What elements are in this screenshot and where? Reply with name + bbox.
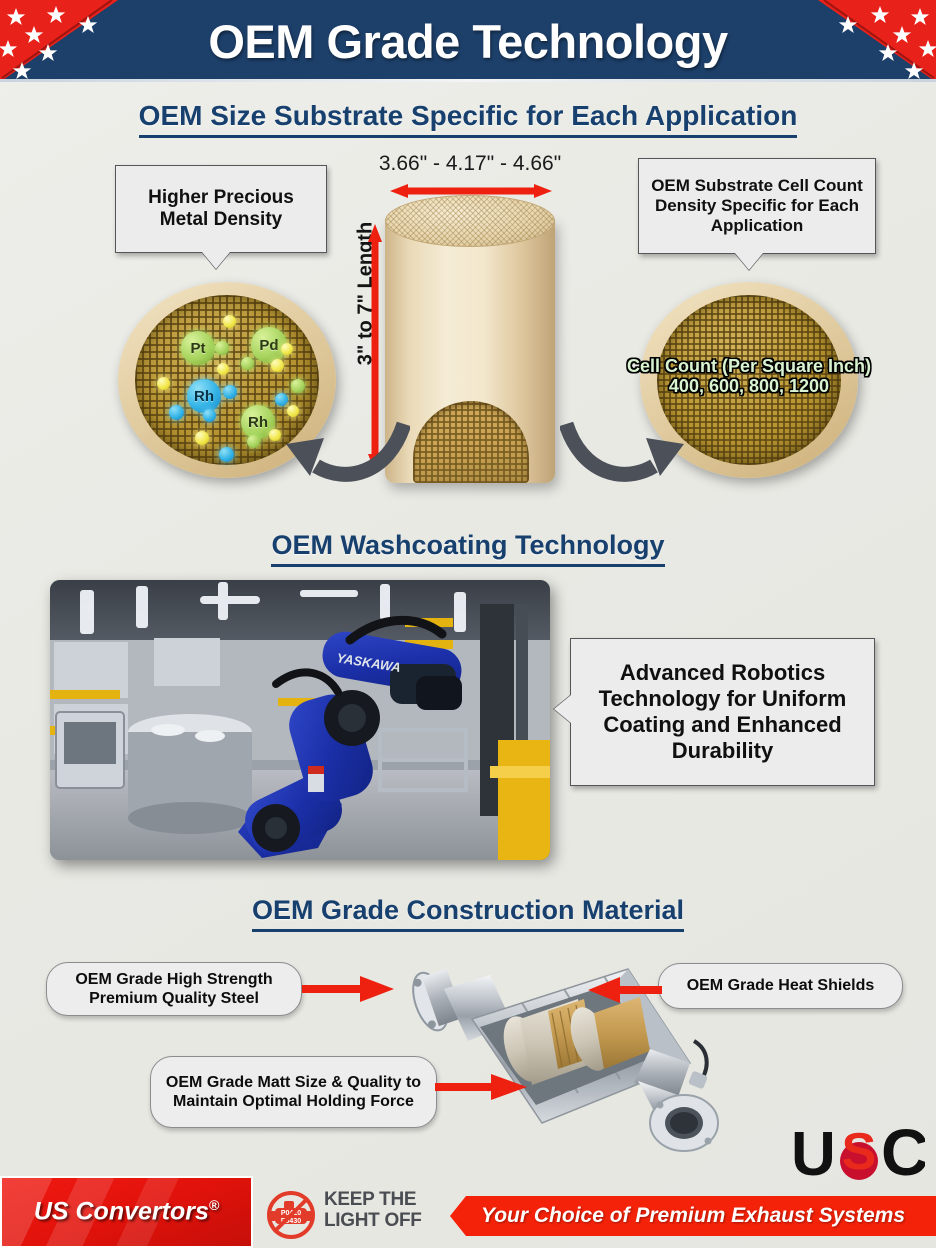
callout-advanced-robotics: Advanced Robotics Technology for Uniform…: [570, 638, 875, 786]
curved-arrow-left: [280, 400, 410, 490]
callout-cell-count-density-text: OEM Substrate Cell Count Density Specifi…: [648, 176, 866, 236]
metal-particle: [247, 435, 260, 448]
tagline-text: Your Choice of Premium Exhaust Systems: [481, 1204, 905, 1228]
callout-tail: [554, 695, 571, 723]
callout-tail: [202, 252, 230, 269]
callout-precious-metal-density-text: Higher Precious Metal Density: [125, 187, 317, 232]
section-heading-substrate: OEM Size Substrate Specific for Each App…: [0, 100, 936, 138]
red-arrow-to-matt: [435, 1074, 527, 1100]
keep-light-line-1: KEEP THE: [324, 1190, 422, 1211]
header-divider: [0, 79, 936, 82]
callout-heat-shields-text: OEM Grade Heat Shields: [687, 976, 875, 995]
precious-metal-rh: Rh: [187, 379, 221, 413]
cell-count-title: Cell Count (Per Square Inch): [598, 356, 900, 376]
page-header: OEM Grade Technology: [0, 0, 936, 82]
callout-precious-metal-density: Higher Precious Metal Density: [115, 165, 327, 253]
keep-light-off-text: KEEP THE LIGHT OFF: [324, 1190, 422, 1231]
precious-metal-pt: Pt: [181, 331, 215, 365]
keep-light-line-2: LIGHT OFF: [324, 1211, 422, 1232]
callout-premium-steel-text: OEM Grade High Strength Premium Quality …: [59, 970, 289, 1008]
metal-particle: [271, 359, 284, 372]
usc-logo-s: S: [842, 1123, 877, 1181]
metal-particle: [219, 447, 234, 462]
callout-premium-steel: OEM Grade High Strength Premium Quality …: [46, 962, 302, 1016]
callout-advanced-robotics-text: Advanced Robotics Technology for Uniform…: [580, 660, 865, 764]
cylinder-body: [385, 219, 555, 483]
keep-the-light-off-badge: P0420 P0430 KEEP THE LIGHT OFF: [262, 1186, 437, 1244]
metal-particle: [281, 343, 293, 355]
tagline-banner: Your Choice of Premium Exhaust Systems: [450, 1196, 936, 1236]
substrate-cylinder: [385, 195, 555, 495]
red-arrow-to-heat-shield: [588, 977, 662, 1003]
red-arrow-to-steel: [302, 976, 394, 1002]
curved-arrow-right: [560, 400, 690, 490]
cell-count-values: 400, 600, 800, 1200: [598, 376, 900, 396]
metal-particle: [215, 341, 229, 355]
metal-particle: [241, 357, 254, 370]
metal-particle: [223, 315, 236, 328]
metal-particle: [291, 379, 305, 393]
metal-particle: [217, 363, 229, 375]
metal-particle: [169, 405, 184, 420]
registered-mark: ®: [209, 1197, 219, 1213]
section-heading-substrate-text: OEM Size Substrate Specific for Each App…: [139, 100, 798, 138]
washcoating-robot-photo: YASKAWA: [50, 580, 550, 860]
callout-heat-shields: OEM Grade Heat Shields: [658, 963, 903, 1009]
cylinder-cutaway-honeycomb: [413, 401, 529, 483]
callout-tail: [735, 253, 763, 270]
usc-logo-c: C: [881, 1117, 925, 1187]
brand-name: US Convertors: [34, 1198, 209, 1226]
metal-particle: [223, 385, 237, 399]
callout-matt-holding-force-text: OEM Grade Matt Size & Quality to Maintai…: [163, 1073, 424, 1111]
section-heading-washcoating: OEM Washcoating Technology: [0, 530, 936, 567]
callout-cell-count-density: OEM Substrate Cell Count Density Specifi…: [638, 158, 876, 254]
usc-logo-u: U: [793, 1120, 836, 1187]
section-heading-construction-text: OEM Grade Construction Material: [252, 895, 684, 932]
cell-count-overlay: Cell Count (Per Square Inch) 400, 600, 8…: [598, 356, 900, 396]
metal-particle: [203, 409, 216, 422]
us-convertors-wordmark: US Convertors®: [34, 1197, 219, 1226]
usc-logo[interactable]: U C S: [793, 1117, 925, 1187]
substrate-diameter-label: 3.66" - 4.17" - 4.66": [330, 152, 610, 176]
no-check-engine-light-icon: P0420 P0430: [264, 1190, 318, 1240]
metal-particle: [157, 377, 170, 390]
section-heading-washcoating-text: OEM Washcoating Technology: [271, 530, 664, 567]
callout-matt-holding-force: OEM Grade Matt Size & Quality to Maintai…: [150, 1056, 437, 1128]
section-heading-construction: OEM Grade Construction Material: [0, 895, 936, 932]
us-convertors-banner[interactable]: US Convertors®: [0, 1176, 253, 1248]
metal-particle: [195, 431, 209, 445]
infographic-page: OEM Grade Technology OEM Size Substrate …: [0, 0, 936, 1248]
page-title: OEM Grade Technology: [0, 0, 936, 82]
cylinder-top-honeycomb: [385, 195, 555, 247]
